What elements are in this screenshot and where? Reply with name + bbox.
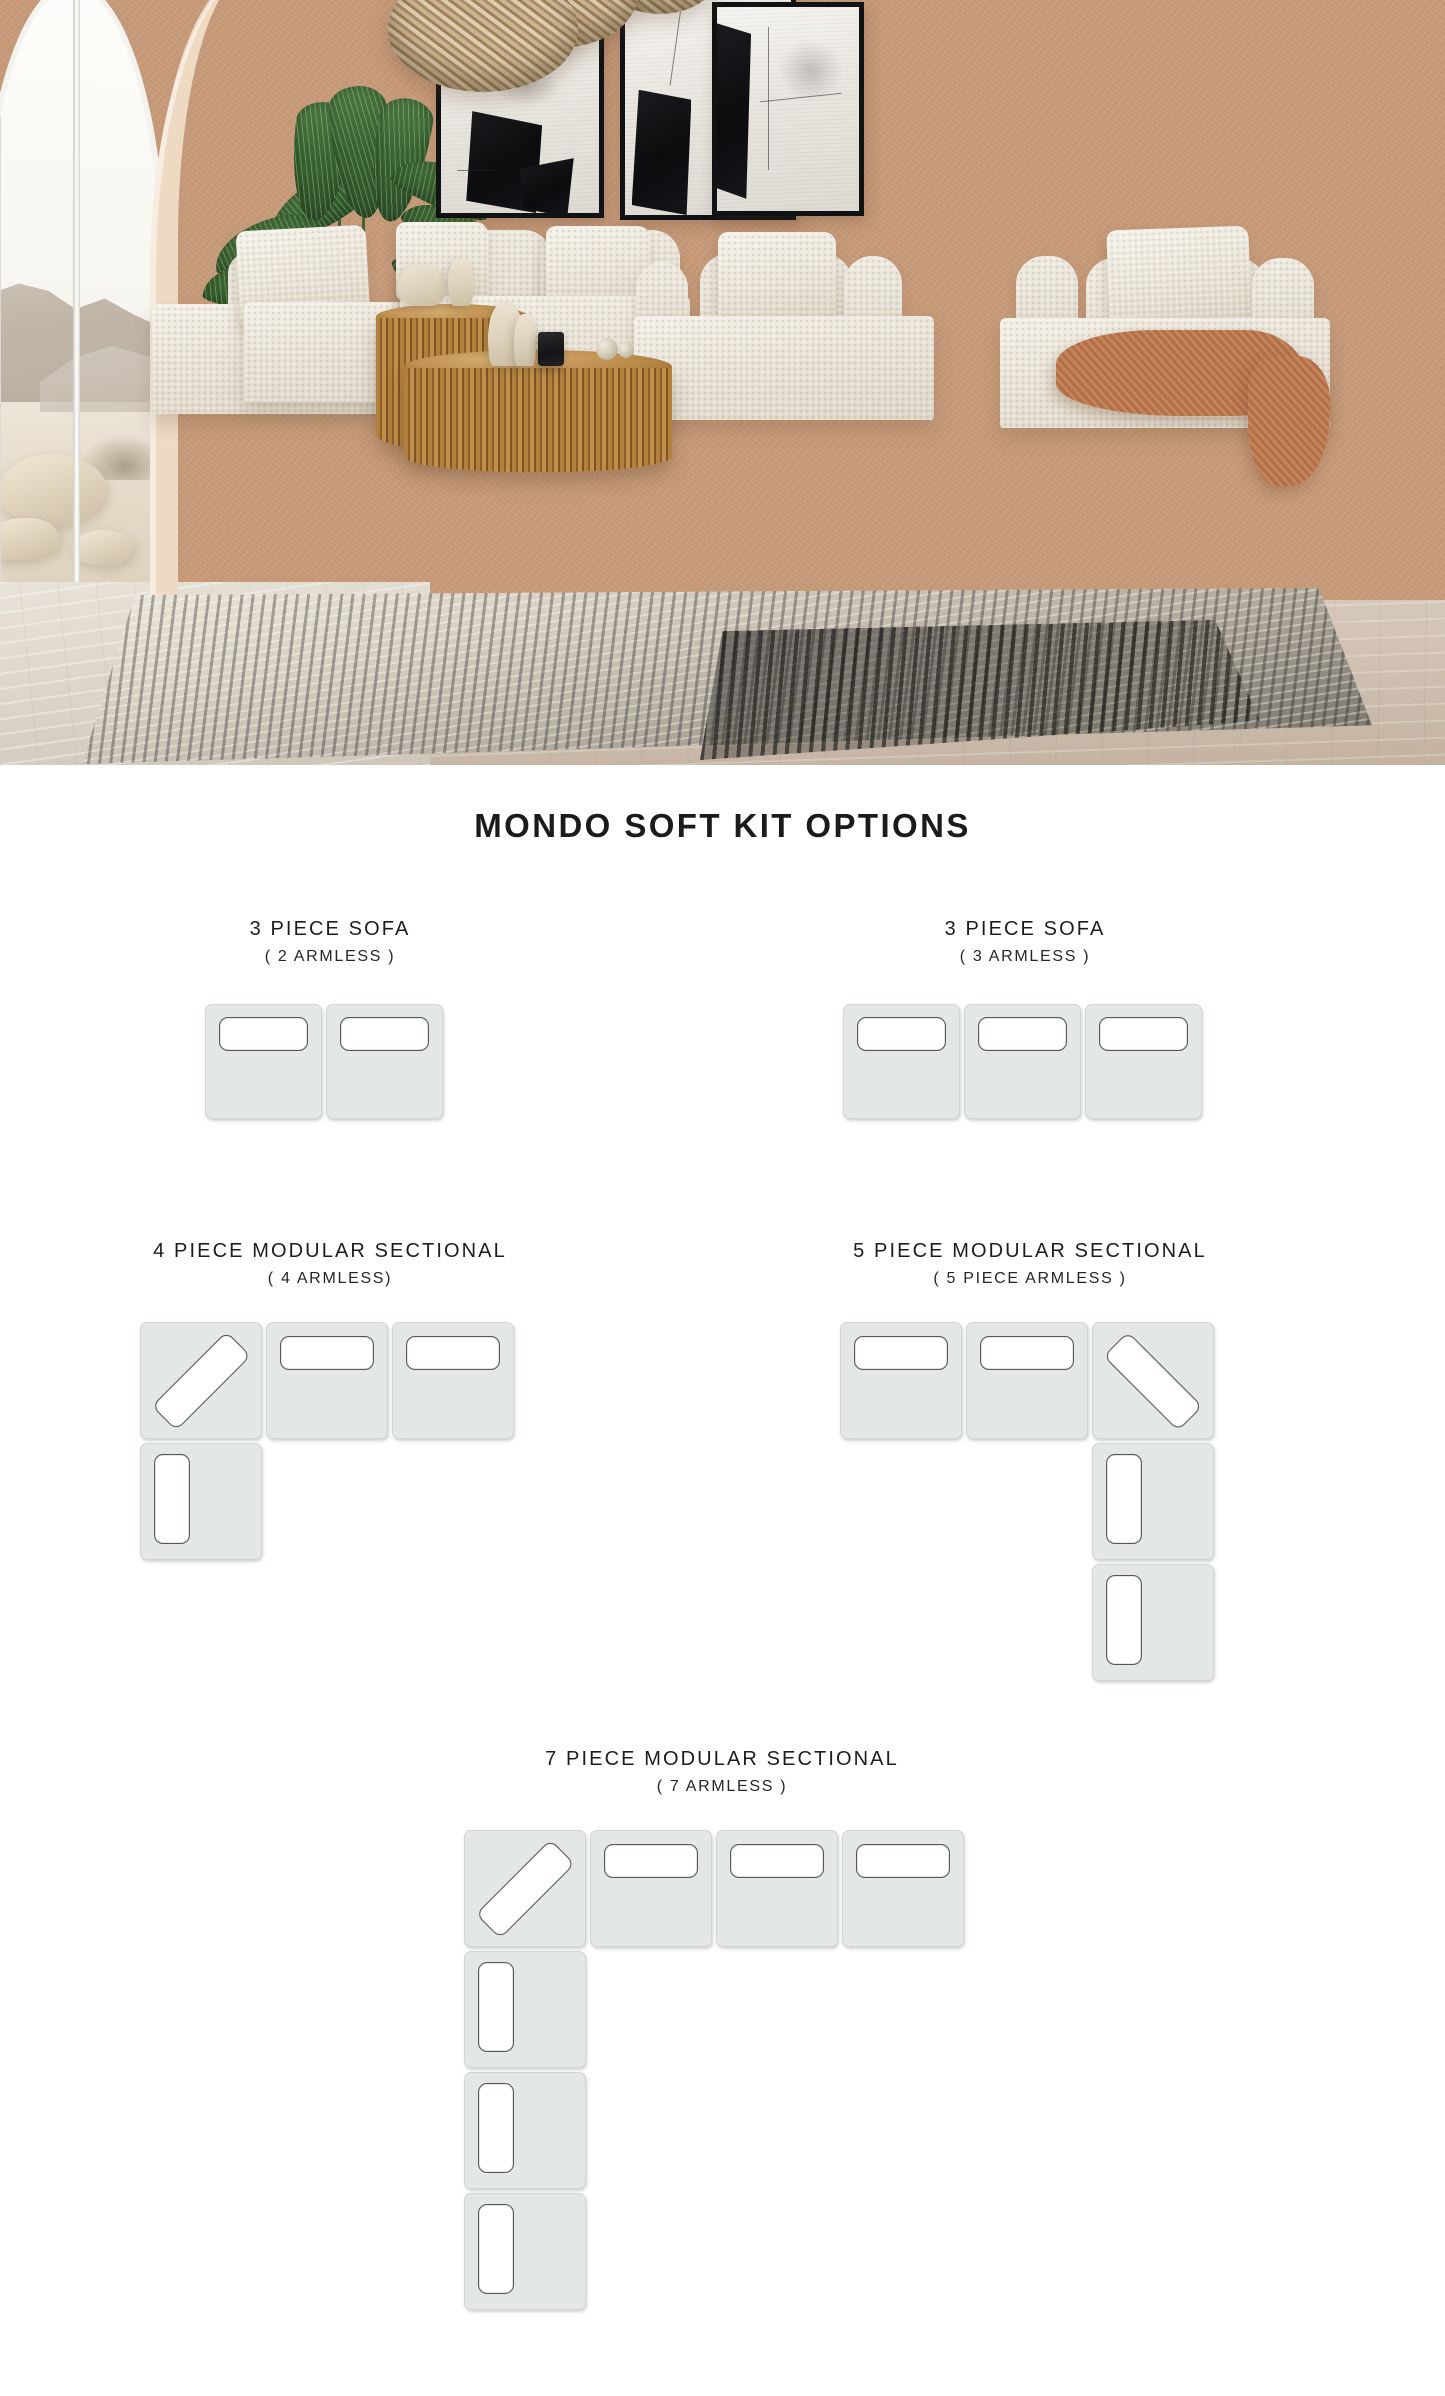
option-title: 3 PIECE SOFA [725,918,1325,941]
sofa-cushion-far [1106,226,1251,331]
module-seat-horizontal-3[interactable] [1085,1004,1202,1119]
module-seat-vertical-2[interactable] [1092,1564,1214,1681]
artwork-line-1 [768,27,769,170]
option-subtitle: ( 2 ARMLESS ) [30,948,630,966]
artwork-smudge-1 [779,40,841,101]
module-seat-vertical-2[interactable] [464,2072,586,2189]
sofa-module-right-seat [634,316,934,420]
module-layout-diagram [0,1322,660,1592]
decor-sphere-1 [596,338,618,360]
ceramic-vase-small [514,314,536,366]
fluted-coffee-table [404,350,672,470]
boucle-texture [634,316,934,420]
option-3-piece-2-armless[interactable]: 3 PIECE SOFA ( 2 ARMLESS ) [30,918,630,1154]
module-corner[interactable] [140,1322,262,1439]
module-backrest [219,1017,309,1051]
module-backrest [1106,1454,1142,1544]
module-backrest [280,1336,374,1371]
option-7-piece-modular[interactable]: 7 PIECE MODULAR SECTIONAL ( 7 ARMLESS ) [342,1748,1102,2350]
page-title: MONDO SOFT KIT OPTIONS [0,807,1445,845]
option-title: 4 PIECE MODULAR SECTIONAL [0,1240,660,1263]
framed-artwork-right [712,2,864,216]
module-seat-vertical-1[interactable] [1092,1443,1214,1560]
kit-options-section: MONDO SOFT KIT OPTIONS 3 PIECE SOFA ( 2 … [0,765,1445,2396]
module-backrest [856,1844,950,1879]
module-layout-diagram [700,1322,1360,1722]
boucle-texture [1106,226,1251,331]
module-seat-horizontal-1[interactable] [266,1322,388,1439]
module-seat-horizontal-1[interactable] [205,1004,322,1119]
module-backrest [154,1454,190,1544]
hero-room-photo [0,0,1445,765]
option-subtitle: ( 4 ARMLESS) [0,1270,660,1288]
module-seat-horizontal-2[interactable] [716,1830,838,1947]
module-backrest [1106,1575,1142,1665]
module-seat-horizontal-3[interactable] [842,1830,964,1947]
module-seat-horizontal-1[interactable] [590,1830,712,1947]
module-seat-vertical-1[interactable] [140,1443,262,1560]
product-options-page: MONDO SOFT KIT OPTIONS 3 PIECE SOFA ( 2 … [0,0,1445,2396]
module-seat-horizontal-2[interactable] [964,1004,1081,1119]
artwork-canvas-right [717,7,859,211]
module-corner[interactable] [1092,1322,1214,1439]
module-backrest [478,1962,514,2052]
module-seat-horizontal-1[interactable] [840,1322,962,1439]
module-seat-horizontal-2[interactable] [326,1004,443,1119]
decor-sphere-2 [618,342,634,358]
window-frame [0,0,166,582]
module-backrest [478,2083,514,2173]
artwork-line-1 [457,170,498,171]
option-subtitle: ( 3 ARMLESS ) [725,948,1325,966]
module-seat-horizontal-2[interactable] [392,1322,514,1439]
ceramic-sculpture-2 [448,258,474,306]
option-5-piece-modular[interactable]: 5 PIECE MODULAR SECTIONAL ( 5 PIECE ARML… [700,1240,1360,1722]
module-backrest [340,1017,430,1051]
sofa-cushion-right-1 [718,232,836,324]
option-title: 5 PIECE MODULAR SECTIONAL [700,1240,1360,1263]
module-backrest-diagonal [151,1331,250,1430]
ceramic-sculpture-1 [398,264,446,306]
module-backrest-diagonal [1103,1331,1202,1430]
option-title: 3 PIECE SOFA [30,918,630,941]
boucle-texture [718,232,836,324]
option-subtitle: ( 5 PIECE ARMLESS ) [700,1270,1360,1288]
module-backrest [406,1336,500,1371]
module-seat-horizontal-1[interactable] [843,1004,960,1119]
module-corner[interactable] [464,1830,586,1947]
module-backrest [978,1017,1068,1051]
module-backrest [604,1844,698,1879]
option-subtitle: ( 7 ARMLESS ) [342,1778,1102,1796]
module-seat-horizontal-2[interactable] [966,1322,1088,1439]
module-layout-diagram [342,1830,1102,2350]
artwork-black-shape-1 [632,90,692,215]
module-backrest [857,1017,947,1051]
module-backrest [854,1336,948,1371]
module-layout-diagram [725,1004,1325,1154]
module-backrest [730,1844,824,1879]
module-seat-vertical-3[interactable] [464,2193,586,2310]
artwork-black-shape-1 [717,23,751,198]
module-backrest [1099,1017,1189,1051]
module-seat-vertical-1[interactable] [464,1951,586,2068]
module-backrest [980,1336,1074,1371]
option-title: 7 PIECE MODULAR SECTIONAL [342,1748,1102,1771]
option-3-piece-3-armless[interactable]: 3 PIECE SOFA ( 3 ARMLESS ) [725,918,1325,1154]
coffee-table-base [404,368,672,472]
module-layout-diagram [30,1004,630,1154]
option-4-piece-modular[interactable]: 4 PIECE MODULAR SECTIONAL ( 4 ARMLESS) [0,1240,660,1592]
black-ceramic-jar [538,332,564,366]
module-backrest-diagonal [475,1839,574,1938]
module-backrest [478,2204,514,2294]
